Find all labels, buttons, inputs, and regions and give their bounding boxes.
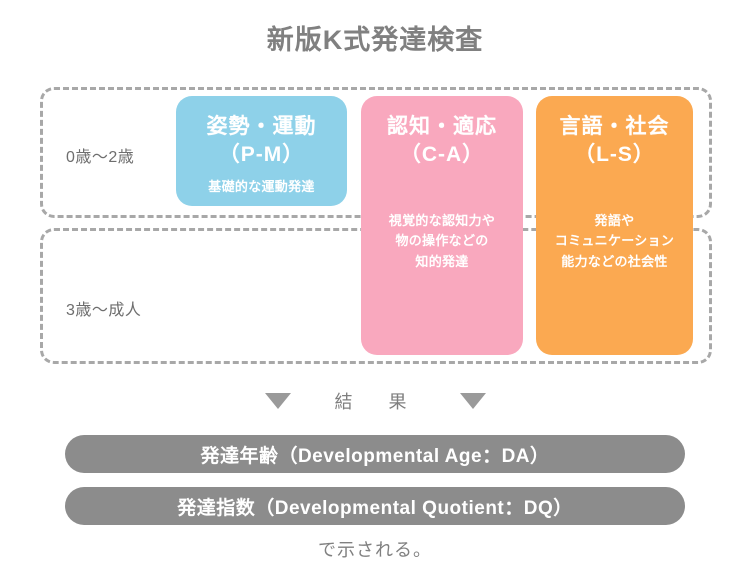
domain-desc-line: 能力などの社会性 bbox=[536, 252, 693, 273]
domain-desc-line: 物の操作などの bbox=[361, 231, 523, 252]
footer-note: で示される。 bbox=[0, 536, 750, 562]
domain-desc-line: 視覚的な認知力や bbox=[361, 211, 523, 232]
domain-desc-language-social: 発語や コミュニケーション 能力などの社会性 bbox=[536, 211, 693, 273]
domain-desc-cognitive-adaptive: 視覚的な認知力や 物の操作などの 知的発達 bbox=[361, 211, 523, 273]
domain-code-cognitive-adaptive: （C-A） bbox=[361, 141, 523, 169]
domain-desc-posture-motor: 基礎的な運動発達 bbox=[176, 177, 347, 198]
page-title: 新版K式発達検査 bbox=[0, 18, 750, 57]
domain-name-language-social: 言語・社会 bbox=[536, 113, 693, 141]
domain-name-cognitive-adaptive: 認知・適応 bbox=[361, 113, 523, 141]
domain-desc-line: 知的発達 bbox=[361, 252, 523, 273]
triangle-down-icon-left bbox=[265, 393, 291, 409]
domain-card-posture-motor[interactable]: 姿勢・運動 （P-M） 基礎的な運動発達 bbox=[176, 96, 347, 206]
domain-name-posture-motor: 姿勢・運動 bbox=[176, 113, 347, 141]
age-band-label-3-adult: 3歳〜成人 bbox=[66, 296, 141, 320]
result-bar-label: 発達指数（Developmental Quotient：DQ） bbox=[177, 493, 573, 520]
result-bar-label: 発達年齢（Developmental Age：DA） bbox=[200, 441, 549, 468]
domain-code-language-social: （L-S） bbox=[536, 141, 693, 169]
age-band-label-0-2: 0歳〜2歳 bbox=[66, 143, 134, 167]
result-divider-row: 結 果 bbox=[0, 388, 750, 414]
domain-code-posture-motor: （P-M） bbox=[176, 141, 347, 169]
result-bar-developmental-age[interactable]: 発達年齢（Developmental Age：DA） bbox=[65, 435, 685, 473]
triangle-down-icon-right bbox=[460, 393, 486, 409]
domain-desc-line: 発語や bbox=[536, 211, 693, 232]
domain-desc-line: コミュニケーション bbox=[536, 231, 693, 252]
result-bar-developmental-quotient[interactable]: 発達指数（Developmental Quotient：DQ） bbox=[65, 487, 685, 525]
result-label: 結 果 bbox=[335, 388, 416, 414]
domain-card-language-social[interactable]: 言語・社会 （L-S） 発語や コミュニケーション 能力などの社会性 bbox=[536, 96, 693, 355]
domain-card-cognitive-adaptive[interactable]: 認知・適応 （C-A） 視覚的な認知力や 物の操作などの 知的発達 bbox=[361, 96, 523, 355]
